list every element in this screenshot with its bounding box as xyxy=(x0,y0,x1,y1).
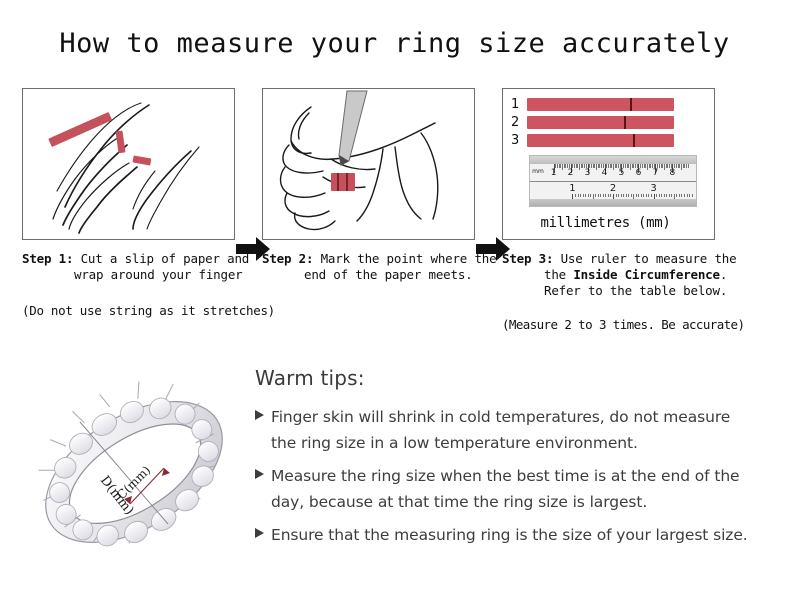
step-3-panel: 1 2 3 xyxy=(502,88,715,240)
step-3-note: (Measure 2 to 3 times. Be accurate) xyxy=(502,317,717,333)
inside-circumference-emphasis: Inside Circumference xyxy=(573,267,720,282)
tip-item: Finger skin will shrink in cold temperat… xyxy=(255,404,755,456)
step-1: Step 1: Cut a slip of paper and wrap aro… xyxy=(22,88,237,319)
paper-strip-red xyxy=(331,173,355,191)
triangle-bullet-icon xyxy=(255,404,271,420)
strip-number-1: 1 xyxy=(511,98,527,111)
step-3-line3: Refer to the table below. xyxy=(502,283,717,299)
step-3-caption: Step 3: Use ruler to measure the the Ins… xyxy=(502,251,717,299)
step-1-label: Step 1: xyxy=(22,251,73,266)
step-2-line1: Mark the point where the xyxy=(321,251,497,266)
step-2-line2: end of the paper meets. xyxy=(262,267,477,283)
tip-item: Ensure that the measuring ring is the si… xyxy=(255,522,755,548)
strip-mark-2 xyxy=(624,116,626,129)
step-3: 1 2 3 xyxy=(502,88,717,333)
strip-row-2: 2 xyxy=(511,115,674,129)
tip-text: Measure the ring size when the best time… xyxy=(271,463,755,515)
strip-number-3: 3 xyxy=(511,134,527,147)
strip-bar-2 xyxy=(527,116,674,129)
triangle-bullet-icon xyxy=(255,463,271,479)
step-1-panel xyxy=(22,88,235,240)
step-2-panel xyxy=(262,88,475,240)
strip-row-1: 1 xyxy=(511,97,674,111)
paper-strip-red xyxy=(48,112,151,166)
ruler-graphic: 12345678mm 123 xyxy=(529,155,697,207)
tip-text: Finger skin will shrink in cold temperat… xyxy=(271,404,755,456)
warm-tips-section: Warm tips: Finger skin will shrink in co… xyxy=(255,366,755,555)
ruler-top-band xyxy=(530,156,696,164)
step-1-caption: Step 1: Cut a slip of paper and wrap aro… xyxy=(22,251,237,283)
ruler-bottom-band xyxy=(530,199,696,206)
tip-text: Ensure that the measuring ring is the si… xyxy=(271,522,748,548)
ring-band xyxy=(18,352,250,580)
ruler-cm-numbers: 12345678mm xyxy=(530,168,696,180)
step-3-line1: Use ruler to measure the xyxy=(561,251,737,266)
strip-row-3: 3 xyxy=(511,133,674,147)
ring-size-guide-page: How to measure your ring size accurately xyxy=(0,0,789,606)
hand-marking-paper-with-pen-illustration xyxy=(263,89,475,240)
step-1-line2: wrap around your finger xyxy=(22,267,237,283)
step-3-line2-pre: the xyxy=(544,267,573,282)
ruler-unit-label: millimetres (mm) xyxy=(503,215,708,231)
strip-bar-3 xyxy=(527,134,674,147)
step-2-label: Step 2: xyxy=(262,251,313,266)
ring-diagram: D(mm) C(mm) xyxy=(18,352,250,592)
triangle-bullet-icon xyxy=(255,522,271,538)
warm-tips-heading: Warm tips: xyxy=(255,366,755,390)
tip-item: Measure the ring size when the best time… xyxy=(255,463,755,515)
step-1-line1: Cut a slip of paper and xyxy=(81,251,250,266)
step-3-label: Step 3: xyxy=(502,251,553,266)
step-1-note: (Do not use string as it stretches) xyxy=(22,303,237,319)
step-2-caption: Step 2: Mark the point where the end of … xyxy=(262,251,477,283)
page-title: How to measure your ring size accurately xyxy=(0,28,789,59)
strip-mark-3 xyxy=(633,134,635,147)
steps-row: Step 1: Cut a slip of paper and wrap aro… xyxy=(0,88,789,338)
strip-bar-1 xyxy=(527,98,674,111)
step-2: Step 2: Mark the point where the end of … xyxy=(262,88,477,283)
step-3-line2-post: . xyxy=(720,267,727,282)
hand-with-paper-strip-illustration xyxy=(23,89,235,240)
measured-strips-group: 1 2 3 xyxy=(511,97,674,151)
strip-number-2: 2 xyxy=(511,116,527,129)
strip-mark-1 xyxy=(630,98,632,111)
ruler-divider xyxy=(530,181,696,182)
